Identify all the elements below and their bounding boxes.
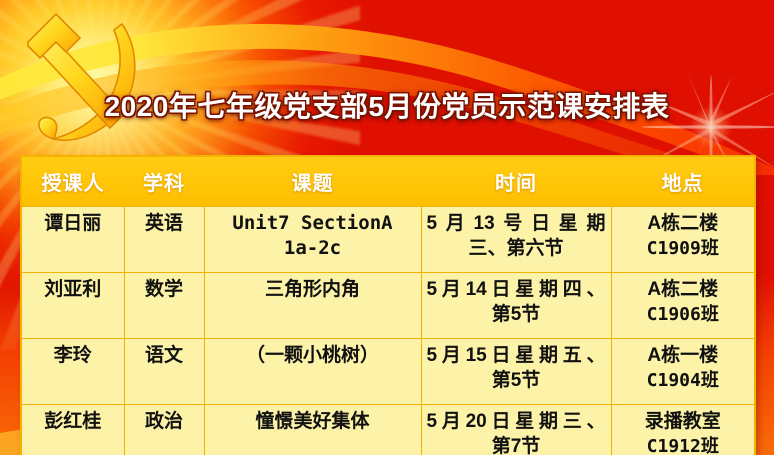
- table-row: 谭日丽 英语 Unit7 SectionA 1a-2c 5月13号日星期 三、第…: [21, 207, 755, 273]
- cell-time: 5月14日星期四、 第5节: [421, 273, 611, 339]
- cell-place-line1: A栋二楼: [647, 213, 718, 234]
- cell-place: 录播教室 C1912班: [611, 405, 755, 455]
- cell-place-line2: C1912班: [647, 436, 719, 455]
- cell-subject: 英语: [124, 207, 204, 273]
- cell-time: 5月13号日星期 三、第六节: [421, 207, 611, 273]
- schedule-table-container: 授课人 学科 课题 时间 地点 谭日丽 英语 Unit7 SectionA 1a…: [20, 155, 754, 455]
- cell-time-line1: 5月15日星期五、: [427, 343, 606, 368]
- hammer-and-sickle-icon: [6, 2, 156, 152]
- table-header-row: 授课人 学科 课题 时间 地点: [21, 156, 755, 207]
- cell-time-line1: 5月13号日星期: [427, 211, 606, 236]
- cell-place-line1: 录播教室: [645, 411, 721, 432]
- cell-time: 5月20日星期三、 第7节: [421, 405, 611, 455]
- column-header-topic: 课题: [204, 156, 421, 207]
- cell-name: 彭红桂: [21, 405, 124, 455]
- cell-name: 刘亚利: [21, 273, 124, 339]
- cell-topic: 三角形内角: [204, 273, 421, 339]
- column-header-name: 授课人: [21, 156, 124, 207]
- cell-topic-line1: （一颗小桃树）: [246, 345, 379, 366]
- cell-place: A栋二楼 C1906班: [611, 273, 755, 339]
- cell-time-line2: 第5节: [427, 368, 606, 393]
- cell-subject: 政治: [124, 405, 204, 455]
- table-row: 刘亚利 数学 三角形内角 5月14日星期四、 第5节 A栋二楼 C1906班: [21, 273, 755, 339]
- cell-place-line2: C1904班: [647, 370, 719, 391]
- cell-topic-line1: 三角形内角: [265, 279, 360, 300]
- cell-topic: （一颗小桃树）: [204, 339, 421, 405]
- table-row: 彭红桂 政治 憧憬美好集体 5月20日星期三、 第7节 录播教室 C1912班: [21, 405, 755, 455]
- poster-root: 2020年七年级党支部5月份党员示范课安排表 授课人 学科 课题 时间 地点 谭…: [0, 0, 774, 455]
- cell-topic: Unit7 SectionA 1a-2c: [204, 207, 421, 273]
- cell-place: A栋二楼 C1909班: [611, 207, 755, 273]
- cell-topic-line1: 憧憬美好集体: [255, 411, 369, 432]
- cell-place-line2: C1909班: [647, 238, 719, 259]
- table-row: 李玲 语文 （一颗小桃树） 5月15日星期五、 第5节 A栋一楼 C1904班: [21, 339, 755, 405]
- cell-time-line1: 5月14日星期四、: [427, 277, 606, 302]
- cell-topic-line2: 1a-2c: [284, 237, 341, 259]
- cell-name: 李玲: [21, 339, 124, 405]
- cell-time-line2: 第5节: [427, 302, 606, 327]
- table-header: 授课人 学科 课题 时间 地点: [21, 156, 755, 207]
- cell-time: 5月15日星期五、 第5节: [421, 339, 611, 405]
- page-title: 2020年七年级党支部5月份党员示范课安排表: [0, 85, 774, 125]
- cell-place-line2: C1906班: [647, 304, 719, 325]
- cell-time-line2: 三、第六节: [427, 236, 606, 261]
- column-header-subject: 学科: [124, 156, 204, 207]
- column-header-place: 地点: [611, 156, 755, 207]
- cell-time-line1: 5月20日星期三、: [427, 409, 606, 434]
- cell-topic: 憧憬美好集体: [204, 405, 421, 455]
- cell-place-line1: A栋一楼: [647, 345, 718, 366]
- cell-place-line1: A栋二楼: [647, 279, 718, 300]
- table-body: 谭日丽 英语 Unit7 SectionA 1a-2c 5月13号日星期 三、第…: [21, 207, 755, 455]
- cell-subject: 数学: [124, 273, 204, 339]
- schedule-table: 授课人 学科 课题 时间 地点 谭日丽 英语 Unit7 SectionA 1a…: [20, 155, 756, 455]
- cell-topic-line1: Unit7 SectionA: [232, 212, 392, 234]
- cell-time-line2: 第7节: [427, 434, 606, 455]
- cell-place: A栋一楼 C1904班: [611, 339, 755, 405]
- cell-subject: 语文: [124, 339, 204, 405]
- column-header-time: 时间: [421, 156, 611, 207]
- cell-name: 谭日丽: [21, 207, 124, 273]
